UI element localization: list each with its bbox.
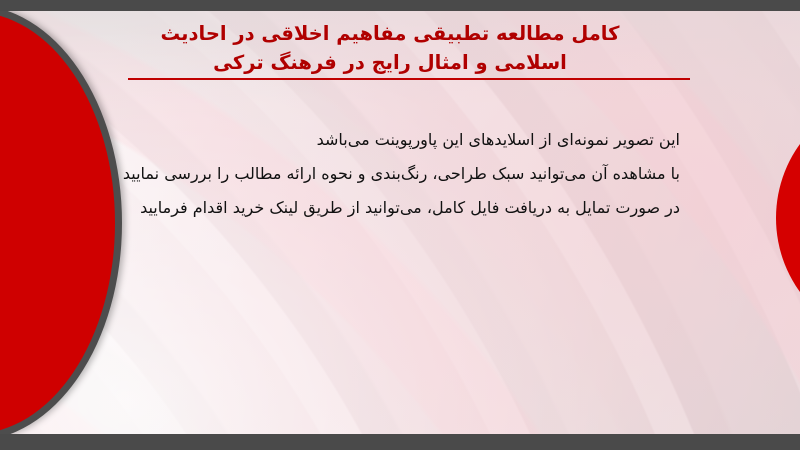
slide-title-line-2: اسلامی و امثال رایج در فرهنگ ترکی <box>100 48 680 77</box>
slide-title-line-1: کامل مطالعه تطبیقی مفاهیم اخلاقی در احاد… <box>100 19 680 48</box>
slide-body-line-3: در صورت تمایل به دریافت فایل کامل، می‌تو… <box>120 191 680 225</box>
slide-body-text: این تصویر نمونه‌ای از اسلایدهای این پاور… <box>120 123 680 225</box>
letterbox-bar-top <box>0 0 800 11</box>
slide-title: کامل مطالعه تطبیقی مفاهیم اخلاقی در احاد… <box>100 19 680 77</box>
presentation-slide: کامل مطالعه تطبیقی مفاهیم اخلاقی در احاد… <box>0 0 800 450</box>
slide-canvas: کامل مطالعه تطبیقی مفاهیم اخلاقی در احاد… <box>0 11 800 434</box>
slide-body-line-2: با مشاهده آن می‌توانید سبک طراحی، رنگ‌بن… <box>120 157 680 191</box>
title-underline-rule <box>128 78 690 80</box>
letterbox-bar-bottom <box>0 434 800 450</box>
slide-body-line-1: این تصویر نمونه‌ای از اسلایدهای این پاور… <box>120 123 680 157</box>
